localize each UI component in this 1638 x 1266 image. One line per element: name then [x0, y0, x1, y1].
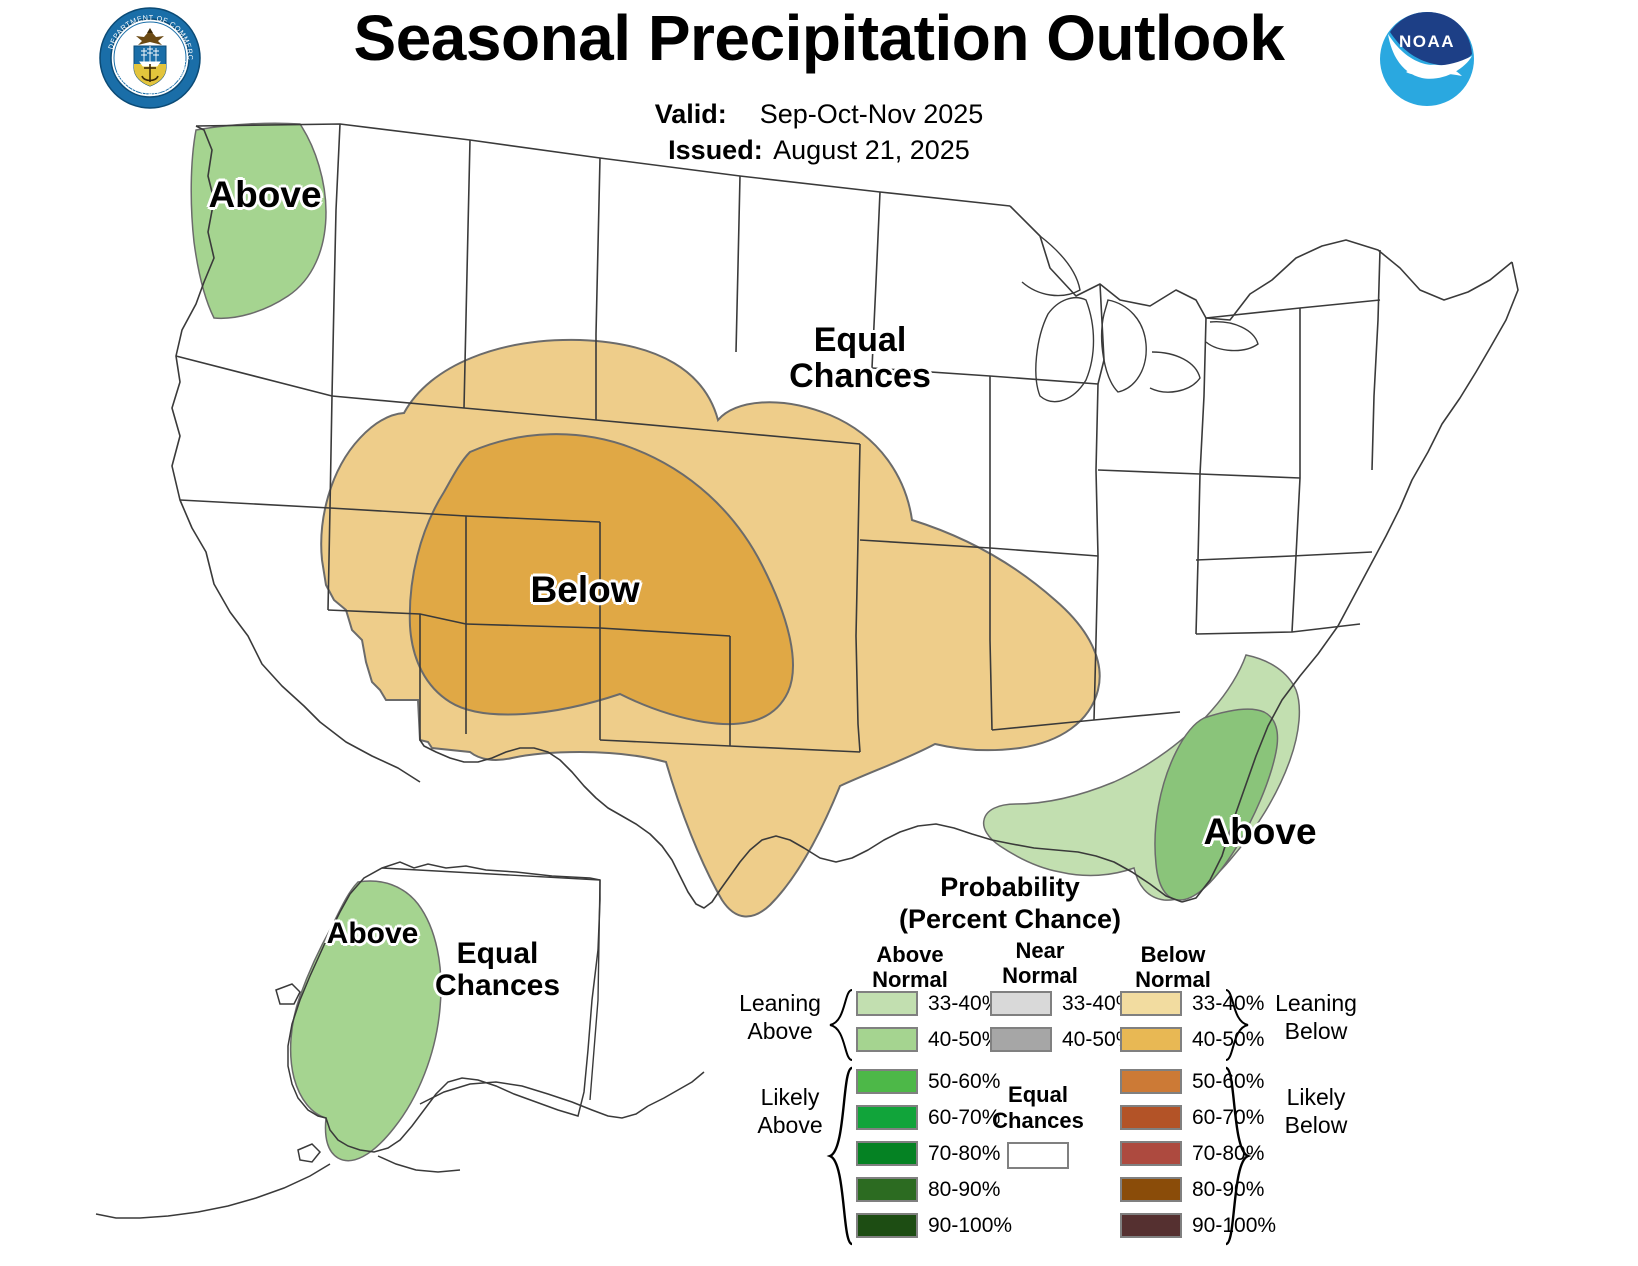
header-near-line2: Normal [980, 963, 1100, 988]
legend-swatch-row: 60-70% [1120, 1104, 1276, 1131]
legend-swatch [1120, 1105, 1182, 1130]
legend-equal-chances: Equal Chances [978, 1082, 1098, 1169]
leaning-above-line2: Above [720, 1018, 840, 1046]
legend-swatch-row: 70-80% [1120, 1140, 1276, 1167]
legend-swatch [856, 991, 918, 1016]
legend-column-header-above-normal: Above Normal [850, 942, 970, 993]
equal-chances-line1: Equal [760, 322, 960, 358]
issued-row: Issued:August 21, 2025 [0, 132, 1638, 168]
legend-swatch [856, 1027, 918, 1052]
eq-line1: Equal [978, 1082, 1098, 1108]
swatches-below-normal-likely: 50-60%60-70%70-80%80-90%90-100% [1120, 1068, 1276, 1248]
brace-likely-below [1224, 1066, 1252, 1246]
legend-title: Probability (Percent Chance) [840, 872, 1180, 936]
issued-label: Issued: [668, 132, 773, 168]
header-above-line2: Normal [850, 967, 970, 992]
legend-swatch [1120, 1213, 1182, 1238]
legend-swatch-row: 90-100% [856, 1212, 1012, 1239]
map-label-above-northwest: Above [195, 175, 335, 215]
legend-swatch-row: 40-50% [990, 1026, 1134, 1053]
issued-value: August 21, 2025 [773, 135, 970, 165]
leaning-below-line1: Leaning [1256, 990, 1376, 1018]
legend-swatch [990, 1027, 1052, 1052]
legend-column-header-near-normal: Near Normal [980, 938, 1100, 989]
legend-swatch-row: 33-40% [990, 990, 1134, 1017]
page-title: Seasonal Precipitation Outlook [0, 6, 1638, 70]
brace-likely-above [826, 1066, 854, 1246]
equal-chances-swatch [1007, 1142, 1069, 1169]
equal-chances-alaska-line1: Equal [425, 938, 570, 970]
legend-swatch-label: 80-90% [928, 1178, 1000, 1202]
legend-swatch [1120, 1027, 1182, 1052]
header-near-line1: Near [980, 938, 1100, 963]
legend-swatch [856, 1177, 918, 1202]
brace-leaning-above [826, 988, 854, 1062]
map-label-equal-chances-alaska: Equal Chances [425, 938, 570, 1002]
swatches-near-normal: 33-40%40-50% [990, 990, 1134, 1062]
legend-label-likely-below: Likely Below [1256, 1084, 1376, 1139]
legend-swatch [1120, 1177, 1182, 1202]
header-below-line2: Normal [1113, 967, 1233, 992]
legend-swatch-row: 80-90% [1120, 1176, 1276, 1203]
legend-swatch [856, 1069, 918, 1094]
valid-label: Valid: [655, 96, 760, 132]
equal-chances-line2: Chances [760, 358, 960, 394]
validity-block: Valid:Sep-Oct-Nov 2025 Issued:August 21,… [0, 96, 1638, 169]
legend-swatch [990, 991, 1052, 1016]
map-label-above-alaska: Above [310, 918, 435, 950]
legend-swatch [856, 1213, 918, 1238]
legend-label-leaning-below: Leaning Below [1256, 990, 1376, 1045]
legend-title-line1: Probability [840, 872, 1180, 904]
map-label-equal-chances-central: Equal Chances [760, 322, 960, 395]
likely-below-line1: Likely [1256, 1084, 1376, 1112]
brace-leaning-below [1224, 988, 1252, 1062]
equal-chances-alaska-line2: Chances [425, 970, 570, 1002]
map-label-below-central: Below [505, 570, 665, 610]
eq-line2: Chances [978, 1108, 1098, 1134]
header-below-line1: Below [1113, 942, 1233, 967]
legend-swatch-row: 80-90% [856, 1176, 1012, 1203]
legend-swatch [1120, 991, 1182, 1016]
legend-swatch-row: 50-60% [1120, 1068, 1276, 1095]
legend-swatch [1120, 1069, 1182, 1094]
legend-swatch-row: 40-50% [856, 1026, 1000, 1053]
swatches-above-normal-leaning: 33-40%40-50% [856, 990, 1000, 1062]
legend-swatch-label: 90-100% [928, 1214, 1012, 1238]
legend: Probability (Percent Chance) Above Norma… [690, 872, 1390, 1266]
legend-swatch [856, 1105, 918, 1130]
legend-column-header-below-normal: Below Normal [1113, 942, 1233, 993]
valid-row: Valid:Sep-Oct-Nov 2025 [0, 96, 1638, 132]
map-label-above-southeast: Above [1185, 812, 1335, 852]
legend-swatch [856, 1141, 918, 1166]
header-above-line1: Above [850, 942, 970, 967]
likely-below-line2: Below [1256, 1112, 1376, 1140]
legend-label-leaning-above: Leaning Above [720, 990, 840, 1045]
legend-title-line2: (Percent Chance) [840, 904, 1180, 936]
legend-swatch-row: 33-40% [856, 990, 1000, 1017]
legend-swatch-row: 90-100% [1120, 1212, 1276, 1239]
leaning-above-line1: Leaning [720, 990, 840, 1018]
leaning-below-line2: Below [1256, 1018, 1376, 1046]
legend-swatch [1120, 1141, 1182, 1166]
valid-value: Sep-Oct-Nov 2025 [760, 99, 984, 129]
